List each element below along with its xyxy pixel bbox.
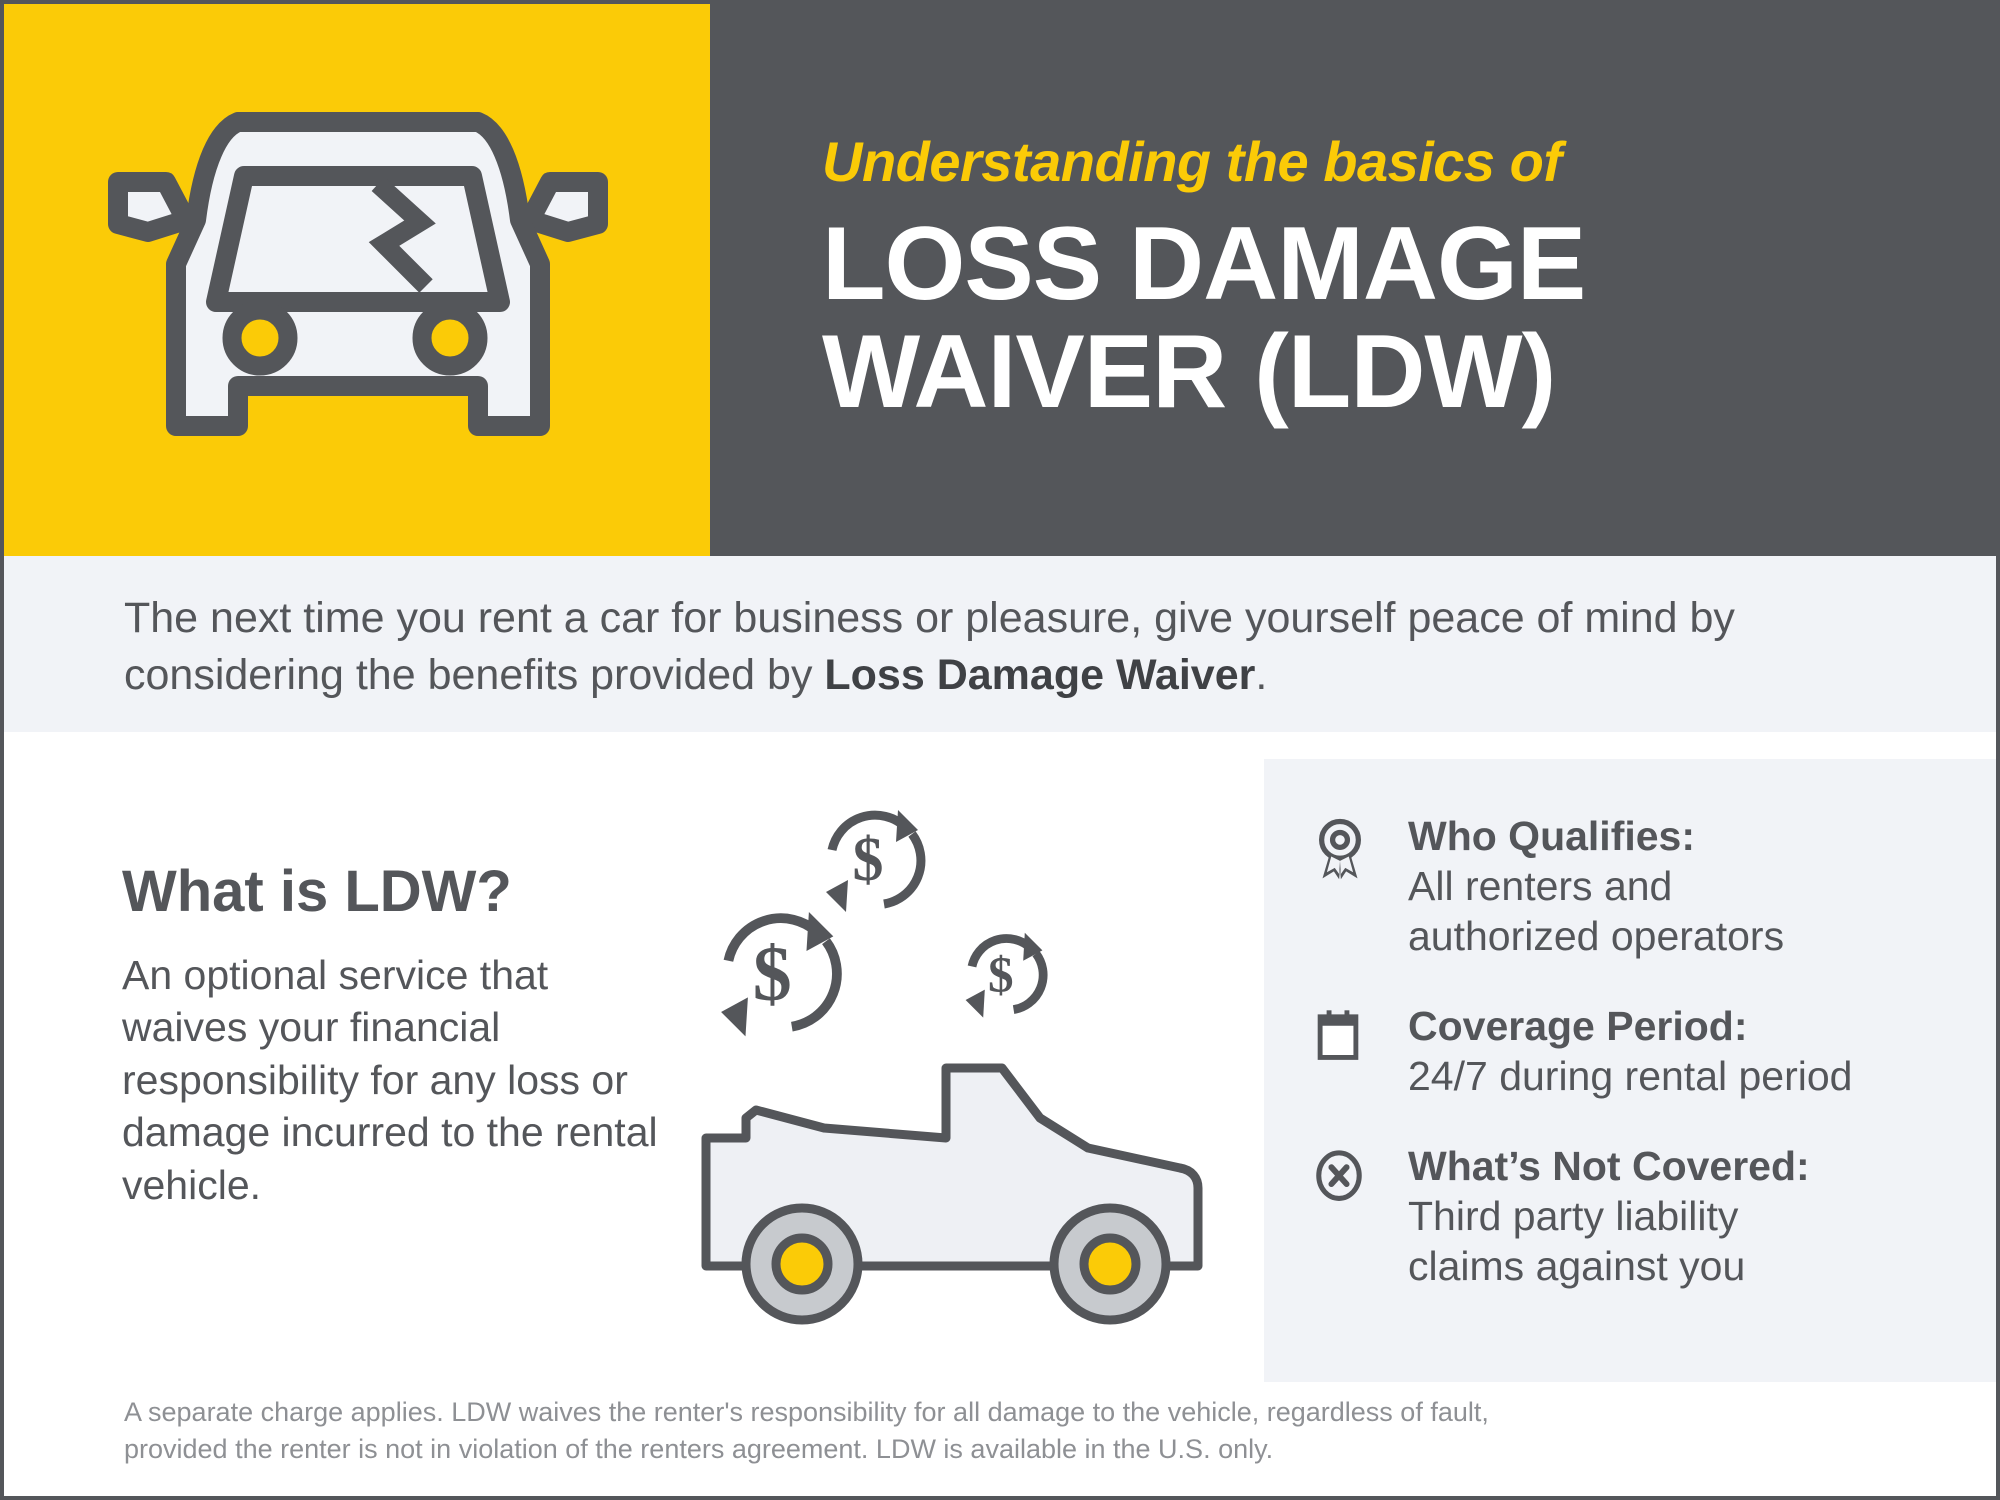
fact-body: Third party liability claims against you [1408,1191,1960,1291]
header-eyebrow: Understanding the basics of [822,133,1996,192]
header-banner: Understanding the basics of LOSS DAMAGE … [4,4,1996,556]
svg-text:$: $ [853,826,884,894]
footer-disclaimer: A separate charge applies. LDW waives th… [124,1394,1876,1467]
intro-band: The next time you rent a car for busines… [4,556,1996,732]
calendar-icon [1312,1001,1408,1064]
svg-text:$: $ [988,947,1014,1004]
intro-emphasis: Loss Damage Waiver [824,651,1255,699]
fact-body: 24/7 during rental period [1408,1051,1960,1101]
intro-text-end: . [1255,651,1267,699]
footer: A separate charge applies. LDW waives th… [4,1386,1996,1496]
infographic-page: Understanding the basics of LOSS DAMAGE … [0,0,2000,1500]
center-illustration: $ $ [694,792,1214,1392]
fact-heading: What’s Not Covered: [1408,1141,1960,1191]
circle-x-icon [1312,1141,1408,1206]
what-is-ldw-block: What is LDW? An optional service that wa… [122,862,667,1211]
intro-paragraph: The next time you rent a car for busines… [124,590,1876,704]
fact-who-qualifies: Who Qualifies: All renters and authorize… [1312,811,1960,961]
what-is-ldw-body: An optional service that waives your fin… [122,949,667,1211]
fact-heading: Who Qualifies: [1408,811,1960,861]
facts-panel: Who Qualifies: All renters and authorize… [1264,759,2000,1382]
header-icon-panel [4,4,710,556]
fact-text: Who Qualifies: All renters and authorize… [1408,811,1960,961]
award-ribbon-icon [1312,811,1408,882]
cracked-windshield-car-icon [48,34,668,524]
header-text-panel: Understanding the basics of LOSS DAMAGE … [710,4,1996,556]
fact-heading: Coverage Period: [1408,1001,1960,1051]
fact-coverage-period: Coverage Period: 24/7 during rental peri… [1312,1001,1960,1101]
fact-body: All renters and authorized operators [1408,861,1960,961]
what-is-ldw-title: What is LDW? [122,862,667,923]
page-title: LOSS DAMAGE WAIVER (LDW) [822,210,1996,426]
svg-text:$: $ [753,930,792,1017]
pickup-truck-icon [706,1068,1198,1320]
dollar-refresh-icon: $ [826,810,921,912]
fact-not-covered: What’s Not Covered: Third party liabilit… [1312,1141,1960,1291]
fact-text: Coverage Period: 24/7 during rental peri… [1408,1001,1960,1101]
dollar-refresh-icon: $ [966,933,1044,1018]
fact-text: What’s Not Covered: Third party liabilit… [1408,1141,1960,1291]
dollar-refresh-icon: $ [721,912,837,1036]
